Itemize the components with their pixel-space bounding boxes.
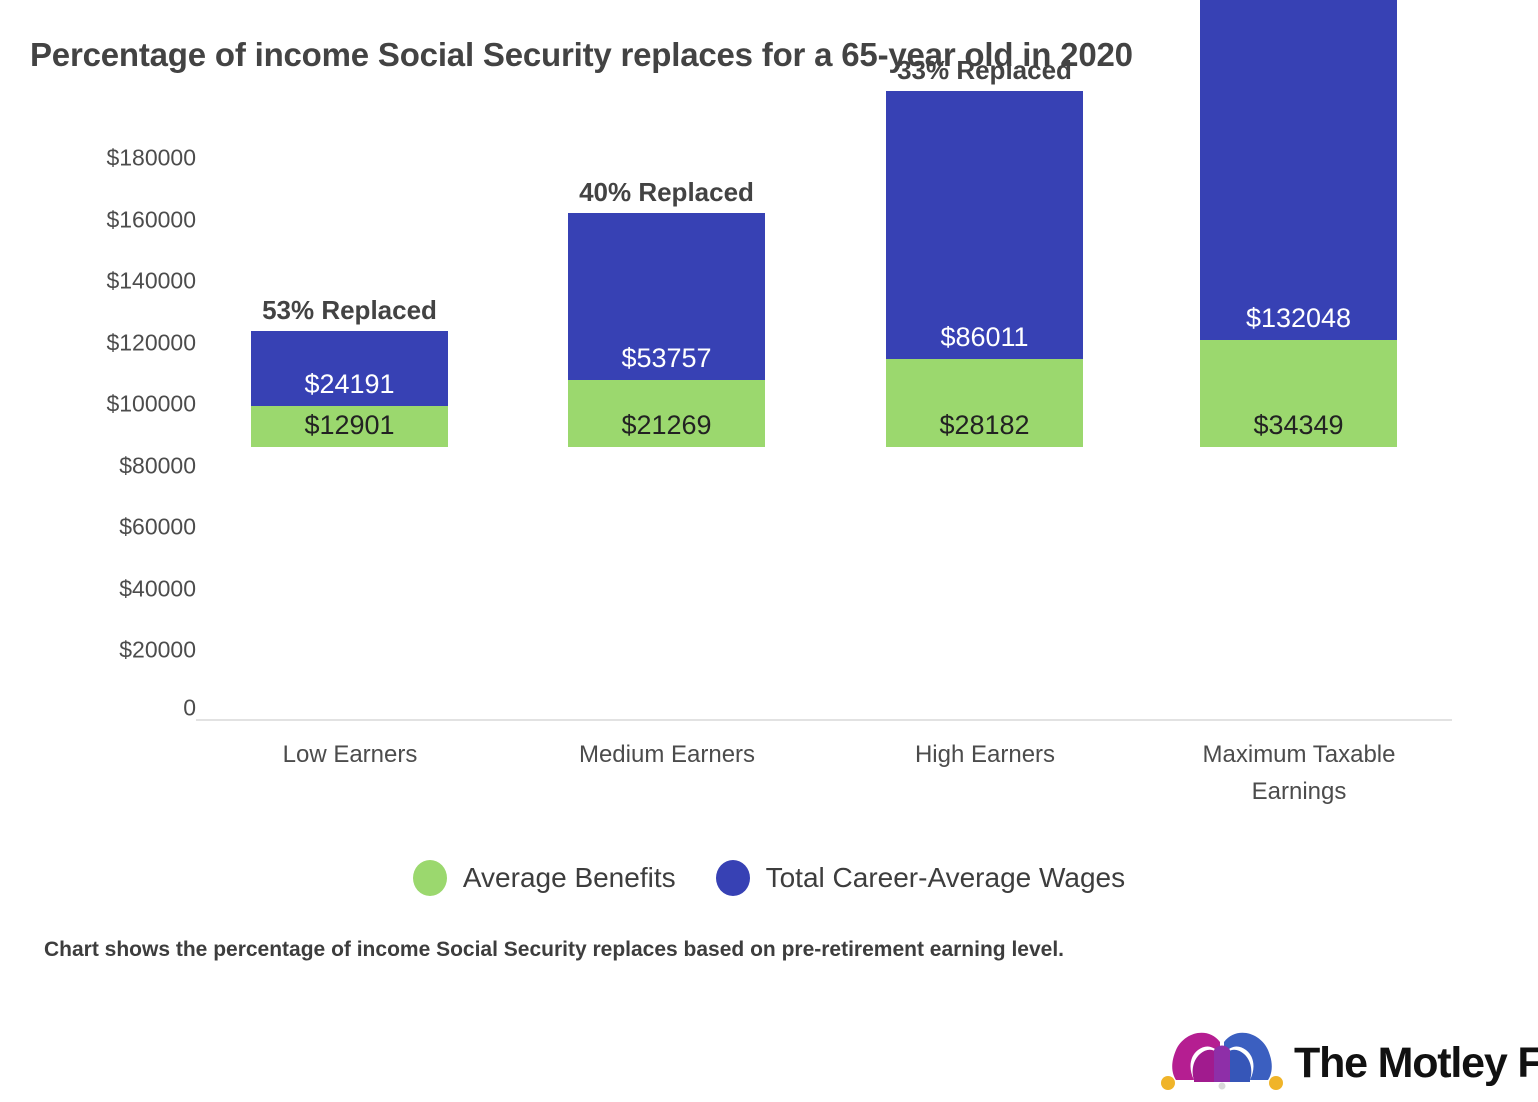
y-tick-120000: $120000	[106, 330, 196, 357]
y-tick-20000: $20000	[119, 637, 196, 664]
y-axis: $180000 $160000 $140000 $120000 $100000 …	[20, 0, 196, 830]
bar-stack-low-earners[interactable]: 53% Replaced $24191 $12901	[251, 331, 448, 447]
bar-annotation-medium-earners: 40% Replaced	[528, 177, 805, 208]
brand-logo: The Motley Fool.	[1158, 1030, 1538, 1097]
brand-wordmark: The Motley Fool.	[1294, 1039, 1538, 1088]
bar-stack-high-earners[interactable]: 33% Replaced $86011 $28182	[886, 91, 1083, 447]
y-tick-80000: $80000	[119, 453, 196, 480]
bar-value-wages-high-earners: $86011	[886, 322, 1083, 353]
x-label-medium-earners: Medium Earners	[537, 736, 797, 773]
circle-swatch-icon	[716, 860, 750, 896]
y-tick-140000: $140000	[106, 268, 196, 295]
y-tick-40000: $40000	[119, 576, 196, 603]
y-tick-180000: $180000	[106, 145, 196, 172]
bar-value-wages-medium-earners: $53757	[568, 343, 765, 374]
bar-segment-benefits-high-earners[interactable]: $28182	[886, 359, 1083, 447]
y-tick-60000: $60000	[119, 514, 196, 541]
legend-item-average-benefits[interactable]: Average Benefits	[413, 860, 676, 896]
bar-segment-wages-low-earners[interactable]: $24191	[251, 331, 448, 406]
x-axis-baseline	[196, 719, 1452, 721]
circle-swatch-icon	[413, 860, 447, 896]
bar-value-benefits-high-earners: $28182	[886, 410, 1083, 441]
bar-segment-wages-high-earners[interactable]: $86011	[886, 91, 1083, 359]
bar-stack-maximum-taxable-earnings[interactable]: 26% Replaced $132048 $34349	[1200, 0, 1397, 447]
bar-segment-benefits-maximum-taxable-earnings[interactable]: $34349	[1200, 340, 1397, 447]
chart-legend: Average Benefits Total Career-Average Wa…	[0, 860, 1538, 896]
x-label-high-earners: High Earners	[855, 736, 1115, 773]
legend-label-average-benefits: Average Benefits	[463, 862, 676, 894]
chart-caption: Chart shows the percentage of income Soc…	[44, 938, 1064, 962]
x-label-low-earners: Low Earners	[220, 736, 480, 773]
bar-segment-benefits-low-earners[interactable]: $12901	[251, 406, 448, 447]
bar-stack-medium-earners[interactable]: 40% Replaced $53757 $21269	[568, 213, 765, 447]
x-label-maximum-taxable-earnings: Maximum Taxable Earnings	[1169, 736, 1429, 810]
bar-value-benefits-low-earners: $12901	[251, 410, 448, 441]
bar-annotation-high-earners: 33% Replaced	[846, 55, 1123, 86]
bar-segment-benefits-medium-earners[interactable]: $21269	[568, 380, 765, 447]
y-tick-100000: $100000	[106, 391, 196, 418]
legend-item-total-career-average-wages[interactable]: Total Career-Average Wages	[716, 860, 1126, 896]
bar-value-wages-low-earners: $24191	[251, 369, 448, 400]
legend-label-total-career-average-wages: Total Career-Average Wages	[766, 862, 1126, 894]
bar-value-benefits-maximum-taxable-earnings: $34349	[1200, 410, 1397, 441]
bar-segment-wages-medium-earners[interactable]: $53757	[568, 213, 765, 380]
y-tick-160000: $160000	[106, 207, 196, 234]
bar-value-wages-maximum-taxable-earnings: $132048	[1200, 303, 1397, 334]
bar-annotation-low-earners: 53% Replaced	[211, 295, 488, 326]
chart-plot-area: $180000 $160000 $140000 $120000 $100000 …	[0, 0, 1538, 830]
jester-hat-icon	[1158, 1030, 1286, 1097]
bar-value-benefits-medium-earners: $21269	[568, 410, 765, 441]
y-tick-0: 0	[183, 695, 196, 722]
bar-segment-wages-maximum-taxable-earnings[interactable]: $132048	[1200, 0, 1397, 340]
